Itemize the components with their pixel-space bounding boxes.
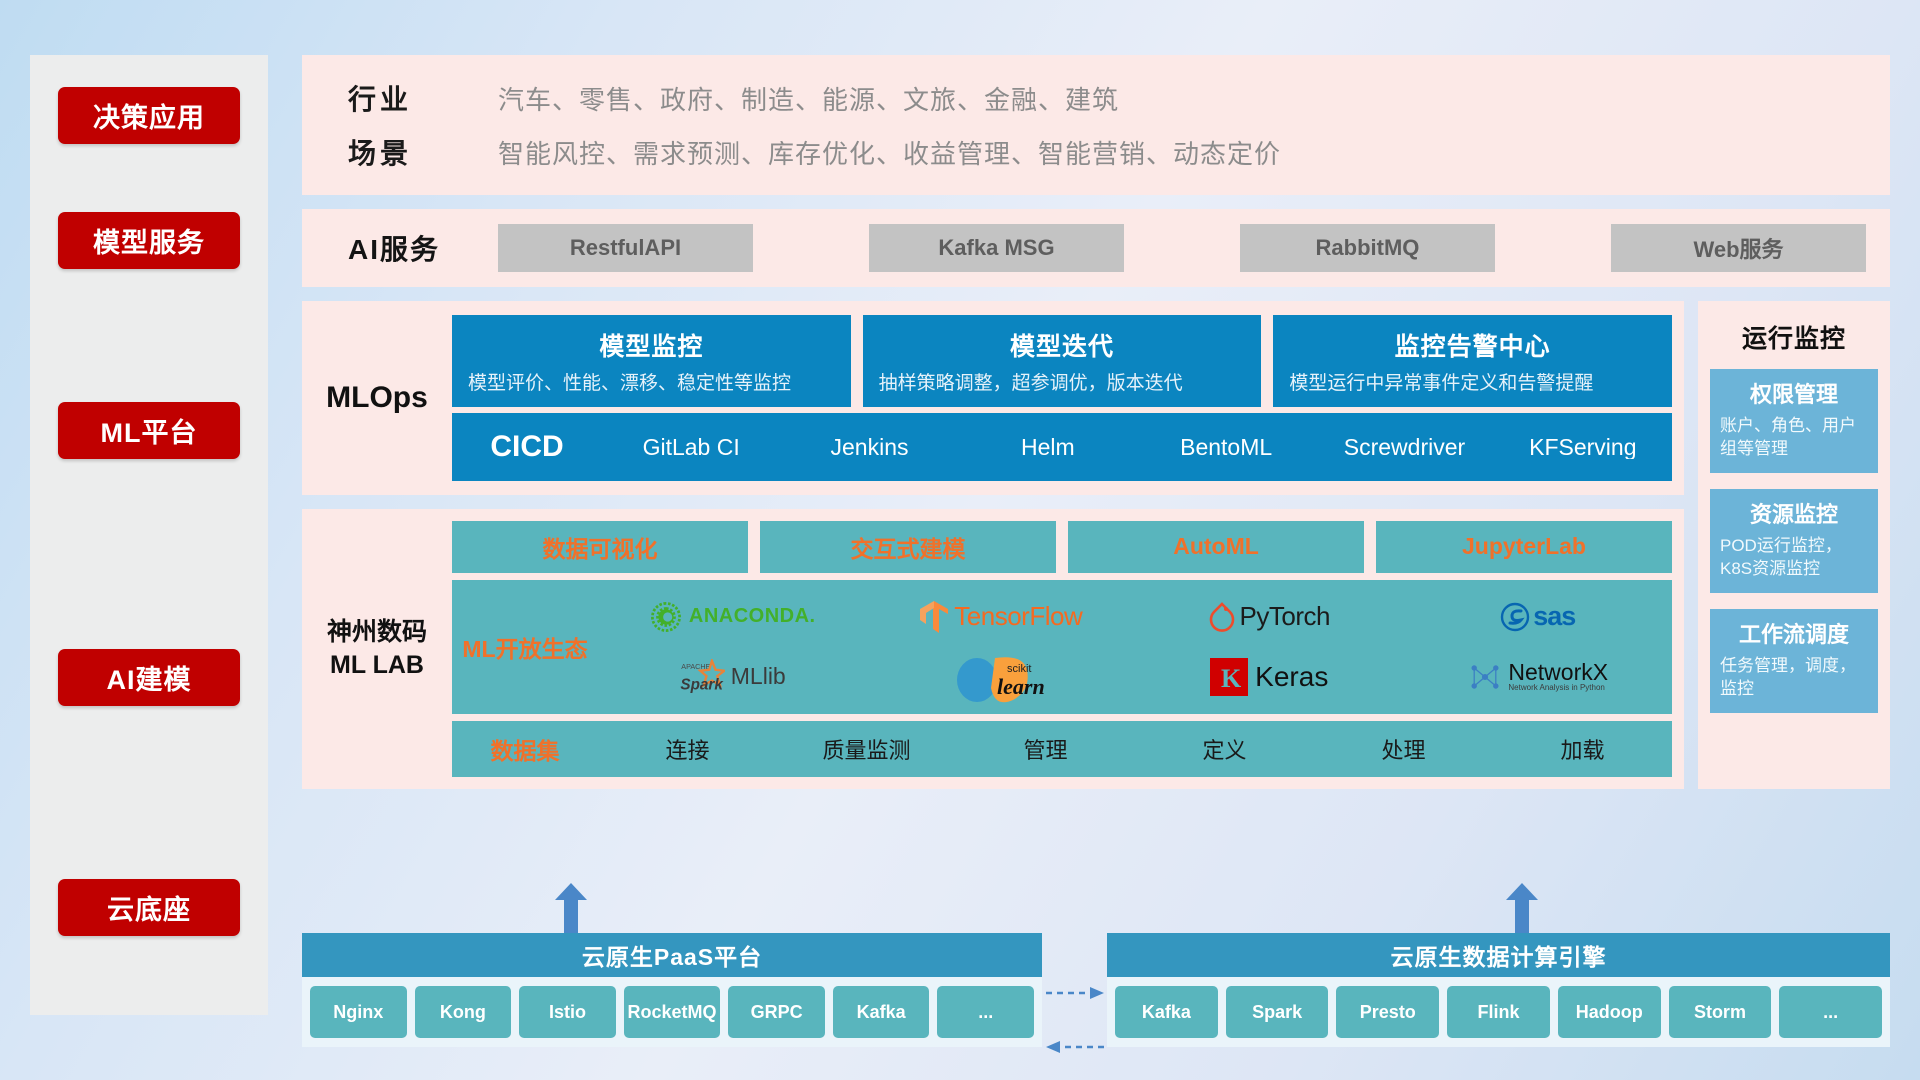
tool-chip-interactive-modeling[interactable]: 交互式建模 bbox=[760, 521, 1056, 573]
mlops-card-desc: 抽样策略调整，超参调优，版本迭代 bbox=[879, 371, 1246, 397]
cloud-foundation-zone: 云原生PaaS平台 Nginx Kong Istio RocketMQ GRPC… bbox=[302, 905, 1890, 1065]
mlops-band: MLOps 模型监控 模型评价、性能、漂移、稳定性等监控 模型迭代 抽样策略调整… bbox=[302, 301, 1684, 495]
spark-mllib-logo: APACHE Spark MLlib bbox=[679, 659, 786, 695]
cicd-item-jenkins[interactable]: Jenkins bbox=[780, 435, 958, 459]
anaconda-logo: ANACONDA. bbox=[649, 600, 816, 634]
ai-service-chip-rabbitmq[interactable]: RabbitMQ bbox=[1240, 224, 1495, 272]
keras-label: Keras bbox=[1255, 661, 1328, 693]
architecture-main: 行业 汽车、零售、政府、制造、能源、文旅、金融、建筑 场景 智能风控、需求预测、… bbox=[302, 55, 1890, 789]
mlops-card-title: 模型迭代 bbox=[879, 327, 1246, 363]
tool-chip-jupyterlab[interactable]: JupyterLab bbox=[1376, 521, 1672, 573]
data-chip-kafka[interactable]: Kafka bbox=[1115, 986, 1218, 1038]
modeling-tool-row: 数据可视化 交互式建模 AutoML JupyterLab bbox=[452, 521, 1672, 573]
ai-modeling-band: 神州数码 ML LAB 数据可视化 交互式建模 AutoML JupyterLa… bbox=[302, 509, 1684, 789]
cloud-chip-nginx[interactable]: Nginx bbox=[310, 986, 407, 1038]
cloud-chip-istio[interactable]: Istio bbox=[519, 986, 616, 1038]
rail-label-cloud-base[interactable]: 云底座 bbox=[58, 879, 240, 936]
tensorflow-logo: TensorFlow bbox=[919, 600, 1082, 634]
networkx-logo: NetworkX Network Analysis in Python bbox=[1467, 659, 1608, 695]
cloud-paas-title: 云原生PaaS平台 bbox=[302, 933, 1042, 977]
ml-ecosystem-row: ML开放生态 ANACONDA. bbox=[452, 580, 1672, 714]
monitoring-card-permission[interactable]: 权限管理 账户、角色、用户组等管理 bbox=[1710, 369, 1878, 473]
mlops-stack: 模型监控 模型评价、性能、漂移、稳定性等监控 模型迭代 抽样策略调整，超参调优，… bbox=[452, 315, 1672, 481]
rail-label-ai-modeling[interactable]: AI建模 bbox=[58, 649, 240, 706]
spark-icon: APACHE Spark bbox=[679, 659, 725, 695]
industry-scenario-band: 行业 汽车、零售、政府、制造、能源、文旅、金融、建筑 场景 智能风控、需求预测、… bbox=[302, 55, 1890, 195]
cloud-chip-grpc[interactable]: GRPC bbox=[728, 986, 825, 1038]
cloud-data-engine-chip-list: Kafka Spark Presto Flink Hadoop Storm ..… bbox=[1107, 977, 1890, 1047]
band-gap-2 bbox=[302, 287, 1890, 301]
ai-service-chip-web-service[interactable]: Web服务 bbox=[1611, 224, 1866, 272]
rail-label-model-service[interactable]: 模型服务 bbox=[58, 212, 240, 269]
mllab-label-line1: 神州数码 bbox=[327, 616, 427, 649]
monitoring-card-desc: 任务管理，调度，监控 bbox=[1720, 655, 1868, 701]
scenario-value: 智能风控、需求预测、库存优化、收益管理、智能营销、动态定价 bbox=[498, 134, 1281, 171]
tool-chip-automl[interactable]: AutoML bbox=[1068, 521, 1364, 573]
cicd-item-list: GitLab CI Jenkins Helm BentoML Screwdriv… bbox=[602, 435, 1672, 459]
rail-slot-4: 云底座 bbox=[30, 800, 268, 1015]
mlops-card-desc: 模型评价、性能、漂移、稳定性等监控 bbox=[468, 371, 835, 397]
data-chip-spark[interactable]: Spark bbox=[1226, 986, 1329, 1038]
cloud-data-engine-title: 云原生数据计算引擎 bbox=[1107, 933, 1890, 977]
monitoring-title: 运行监控 bbox=[1710, 319, 1878, 355]
tensorflow-icon bbox=[919, 600, 949, 634]
rail-slot-2: ML平台 bbox=[30, 305, 268, 555]
scenario-key: 场景 bbox=[348, 132, 498, 172]
keras-logo: K Keras bbox=[1210, 658, 1328, 696]
runtime-monitoring-column: 运行监控 权限管理 账户、角色、用户组等管理 资源监控 POD运行监控，K8S资… bbox=[1698, 301, 1890, 789]
dataset-item-manage[interactable]: 管理 bbox=[956, 733, 1135, 765]
monitoring-card-title: 资源监控 bbox=[1720, 497, 1868, 529]
industry-row: 行业 汽车、零售、政府、制造、能源、文旅、金融、建筑 bbox=[348, 78, 1281, 118]
up-arrow-to-modeling-icon bbox=[554, 883, 588, 935]
ai-service-title: AI服务 bbox=[348, 228, 498, 268]
anaconda-label: ANACONDA. bbox=[689, 605, 816, 628]
band-gap-3 bbox=[302, 495, 1684, 509]
cicd-item-gitlab-ci[interactable]: GitLab CI bbox=[602, 435, 780, 459]
svg-text:K: K bbox=[1221, 664, 1242, 693]
ml-ecosystem-logo-grid: ANACONDA. TensorFlow bbox=[598, 588, 1672, 706]
rail-label-ml-platform[interactable]: ML平台 bbox=[58, 402, 240, 459]
bidirectional-link-arrows-icon bbox=[1044, 977, 1106, 1067]
mllab-label: 神州数码 ML LAB bbox=[302, 521, 452, 777]
rail-label-decision-app[interactable]: 决策应用 bbox=[58, 87, 240, 144]
cloud-chip-rocketmq[interactable]: RocketMQ bbox=[624, 986, 721, 1038]
dataset-item-quality[interactable]: 质量监测 bbox=[777, 733, 956, 765]
cloud-data-engine-group: 云原生数据计算引擎 Kafka Spark Presto Flink Hadoo… bbox=[1107, 933, 1890, 1047]
cicd-item-kfserving[interactable]: KFServing bbox=[1494, 435, 1672, 459]
sas-logo: sas bbox=[1500, 601, 1575, 632]
dataset-item-load[interactable]: 加载 bbox=[1493, 733, 1672, 765]
band-gap bbox=[302, 195, 1890, 209]
industry-value: 汽车、零售、政府、制造、能源、文旅、金融、建筑 bbox=[498, 80, 1119, 117]
rail-slot-1: 模型服务 bbox=[30, 175, 268, 305]
cloud-paas-chip-list: Nginx Kong Istio RocketMQ GRPC Kafka ... bbox=[302, 977, 1042, 1047]
scenario-row: 场景 智能风控、需求预测、库存优化、收益管理、智能营销、动态定价 bbox=[348, 132, 1281, 172]
tool-chip-data-visualization[interactable]: 数据可视化 bbox=[452, 521, 748, 573]
mlops-card-list: 模型监控 模型评价、性能、漂移、稳定性等监控 模型迭代 抽样策略调整，超参调优，… bbox=[452, 315, 1672, 407]
rail-slot-0: 决策应用 bbox=[30, 55, 268, 175]
rail-slot-3: AI建模 bbox=[30, 555, 268, 800]
up-arrow-to-data-icon bbox=[1505, 883, 1539, 935]
cicd-item-bentoml[interactable]: BentoML bbox=[1137, 435, 1315, 459]
pytorch-icon bbox=[1209, 601, 1235, 633]
ai-service-band: AI服务 RestfulAPI Kafka MSG RabbitMQ Web服务 bbox=[302, 209, 1890, 287]
ai-service-chip-restfulapi[interactable]: RestfulAPI bbox=[498, 224, 753, 272]
cicd-title: CICD bbox=[452, 430, 602, 464]
data-chip-flink[interactable]: Flink bbox=[1447, 986, 1550, 1038]
mllab-label-line2: ML LAB bbox=[330, 649, 424, 682]
cloud-chip-kong[interactable]: Kong bbox=[415, 986, 512, 1038]
ai-service-chip-list: RestfulAPI Kafka MSG RabbitMQ Web服务 bbox=[498, 224, 1866, 272]
cloud-paas-group: 云原生PaaS平台 Nginx Kong Istio RocketMQ GRPC… bbox=[302, 933, 1042, 1047]
pytorch-logo: PyTorch bbox=[1209, 601, 1330, 633]
cloud-chip-kafka[interactable]: Kafka bbox=[833, 986, 930, 1038]
dataset-item-process[interactable]: 处理 bbox=[1314, 733, 1493, 765]
sas-icon bbox=[1500, 602, 1530, 632]
scikit-learn-logo: scikit learn bbox=[941, 648, 1061, 706]
dataset-row: 数据集 连接 质量监测 管理 定义 处理 加载 bbox=[452, 721, 1672, 777]
monitoring-card-workflow[interactable]: 工作流调度 任务管理，调度，监控 bbox=[1710, 609, 1878, 713]
monitoring-card-desc: 账户、角色、用户组等管理 bbox=[1720, 415, 1868, 461]
dataset-item-connect[interactable]: 连接 bbox=[598, 733, 777, 765]
tensorflow-label: TensorFlow bbox=[954, 601, 1082, 632]
mlops-card-alert-center[interactable]: 监控告警中心 模型运行中异常事件定义和告警提醒 bbox=[1273, 315, 1672, 407]
modeling-stack: 数据可视化 交互式建模 AutoML JupyterLab ML开放生态 bbox=[452, 521, 1672, 777]
dataset-label: 数据集 bbox=[452, 732, 598, 766]
sas-label: sas bbox=[1533, 601, 1575, 632]
monitoring-card-title: 工作流调度 bbox=[1720, 617, 1868, 649]
mlops-card-model-iteration[interactable]: 模型迭代 抽样策略调整，超参调优，版本迭代 bbox=[863, 315, 1262, 407]
cicd-item-helm[interactable]: Helm bbox=[959, 435, 1137, 459]
monitoring-card-desc: POD运行监控，K8S资源监控 bbox=[1720, 535, 1868, 581]
monitoring-card-title: 权限管理 bbox=[1720, 377, 1868, 409]
networkx-label: NetworkX bbox=[1508, 661, 1608, 684]
mlops-card-title: 监控告警中心 bbox=[1289, 327, 1656, 363]
data-chip-storm[interactable]: Storm bbox=[1669, 986, 1772, 1038]
dataset-item-list: 连接 质量监测 管理 定义 处理 加载 bbox=[598, 733, 1672, 765]
data-chip-hadoop[interactable]: Hadoop bbox=[1558, 986, 1661, 1038]
data-chip-more[interactable]: ... bbox=[1779, 986, 1882, 1038]
mlops-card-title: 模型监控 bbox=[468, 327, 835, 363]
cicd-item-screwdriver[interactable]: Screwdriver bbox=[1315, 435, 1493, 459]
monitoring-card-resource[interactable]: 资源监控 POD运行监控，K8S资源监控 bbox=[1710, 489, 1878, 593]
anaconda-icon bbox=[649, 600, 683, 634]
stage-label-rail: 决策应用 模型服务 ML平台 AI建模 云底座 bbox=[30, 55, 268, 1015]
platform-column: MLOps 模型监控 模型评价、性能、漂移、稳定性等监控 模型迭代 抽样策略调整… bbox=[302, 301, 1684, 789]
svg-text:learn: learn bbox=[997, 674, 1045, 699]
industry-key: 行业 bbox=[348, 78, 498, 118]
platform-and-monitoring-wrap: MLOps 模型监控 模型评价、性能、漂移、稳定性等监控 模型迭代 抽样策略调整… bbox=[302, 301, 1890, 789]
mlops-label: MLOps bbox=[302, 315, 452, 481]
scikit-learn-icon: scikit learn bbox=[941, 648, 1061, 706]
keras-icon: K bbox=[1210, 658, 1248, 696]
networkx-icon bbox=[1467, 659, 1503, 695]
data-chip-presto[interactable]: Presto bbox=[1336, 986, 1439, 1038]
svg-text:Spark: Spark bbox=[680, 676, 724, 693]
ai-service-chip-kafka-msg[interactable]: Kafka MSG bbox=[869, 224, 1124, 272]
mlops-card-desc: 模型运行中异常事件定义和告警提醒 bbox=[1289, 371, 1656, 397]
mlops-card-model-monitoring[interactable]: 模型监控 模型评价、性能、漂移、稳定性等监控 bbox=[452, 315, 851, 407]
dataset-item-define[interactable]: 定义 bbox=[1135, 733, 1314, 765]
industry-table: 行业 汽车、零售、政府、制造、能源、文旅、金融、建筑 场景 智能风控、需求预测、… bbox=[348, 78, 1281, 172]
cloud-chip-more[interactable]: ... bbox=[937, 986, 1034, 1038]
mllib-label: MLlib bbox=[731, 663, 786, 690]
cicd-bar: CICD GitLab CI Jenkins Helm BentoML Scre… bbox=[452, 413, 1672, 481]
networkx-tagline: Network Analysis in Python bbox=[1508, 684, 1608, 692]
ml-ecosystem-label: ML开放生态 bbox=[452, 630, 598, 664]
pytorch-label: PyTorch bbox=[1240, 601, 1330, 632]
